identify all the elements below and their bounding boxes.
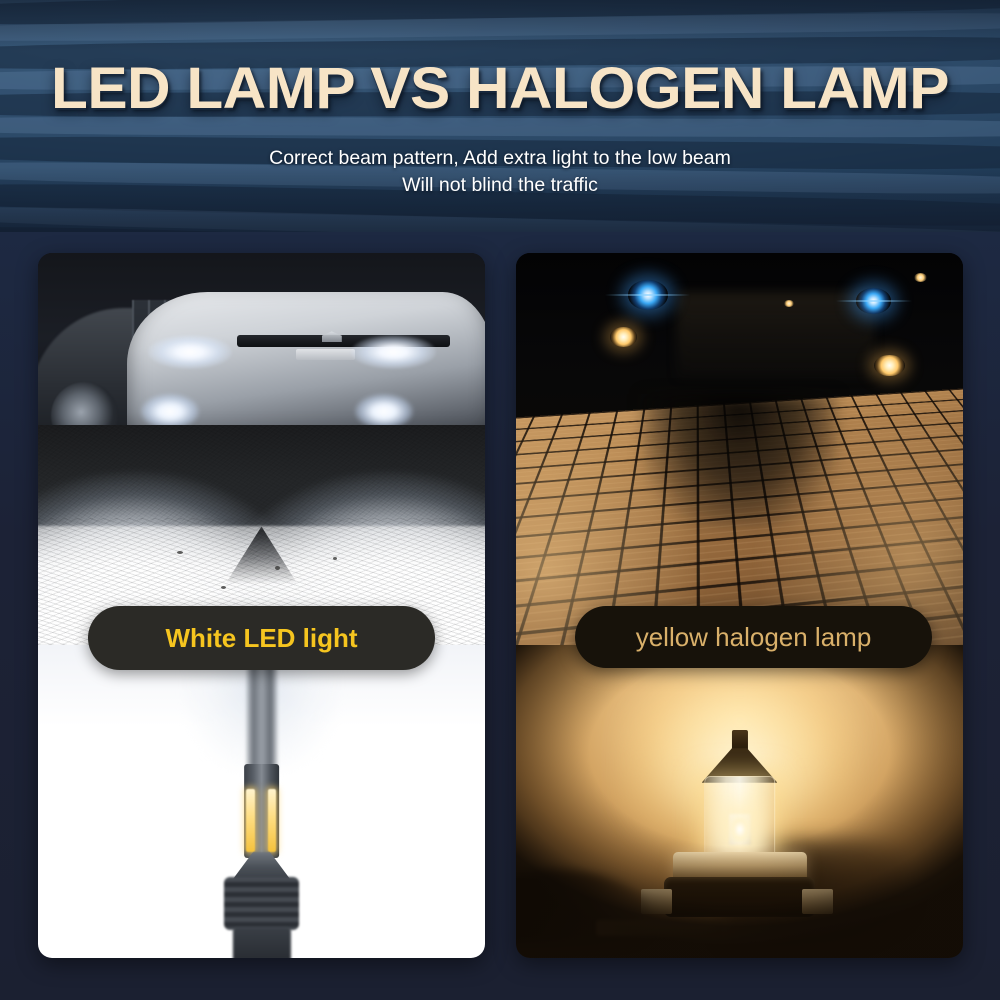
halogen-beam-photo: [516, 253, 963, 645]
halogen-corner-vignette: [516, 645, 963, 958]
led-emitter-chip: [268, 789, 276, 852]
led-foglight-left: [141, 394, 199, 429]
halogen-comparison-card[interactable]: yellow halogen lamp: [516, 253, 963, 958]
subtitle-line-1: Correct beam pattern, Add extra light to…: [269, 147, 731, 169]
page-title: LED LAMP VS HALOGEN LAMP: [0, 58, 1000, 120]
led-badge[interactable]: White LED light: [88, 606, 435, 670]
led-bulb-photo: [38, 645, 485, 958]
led-comparison-card[interactable]: White LED light: [38, 253, 485, 958]
led-bulb-connector-tip: [232, 927, 290, 958]
car-emblem: [322, 331, 342, 342]
led-headlight-right: [351, 335, 436, 368]
halogen-badge-label: yellow halogen lamp: [636, 622, 872, 653]
comparison-area: White LED light: [0, 232, 1000, 1000]
blue-flare-ray: [605, 294, 690, 296]
blue-flare-ray: [836, 300, 912, 302]
led-bulb-heatsink-base: [224, 877, 300, 930]
dim-wall-area: [677, 292, 874, 378]
warm-light-flare: [610, 327, 637, 347]
header-banner: LED LAMP VS HALOGEN LAMP Correct beam pa…: [0, 0, 1000, 232]
road-debris: [177, 551, 183, 554]
halogen-bulb-scene: [516, 645, 963, 958]
page-subtitle: Correct beam pattern, Add extra light to…: [0, 145, 1000, 199]
road-debris: [275, 566, 280, 570]
led-headlight-left: [148, 335, 233, 368]
led-beam-photo: [38, 253, 485, 645]
halogen-badge[interactable]: yellow halogen lamp: [575, 606, 932, 668]
led-night-scene: [38, 253, 485, 645]
subtitle-line-2: Will not blind the traffic: [0, 172, 1000, 199]
led-bulb-neck: [232, 852, 290, 880]
led-bulb-scene: [38, 645, 485, 958]
small-warm-flare: [914, 273, 927, 282]
led-emitter-chip: [246, 789, 254, 852]
infographic-page: LED LAMP VS HALOGEN LAMP Correct beam pa…: [0, 0, 1000, 1000]
license-plate: [296, 349, 355, 361]
center-dark-shadow: [641, 394, 838, 527]
halogen-bulb-photo: [516, 645, 963, 958]
road-debris: [221, 586, 226, 589]
led-badge-label: White LED light: [165, 623, 357, 654]
halogen-night-scene: [516, 253, 963, 645]
